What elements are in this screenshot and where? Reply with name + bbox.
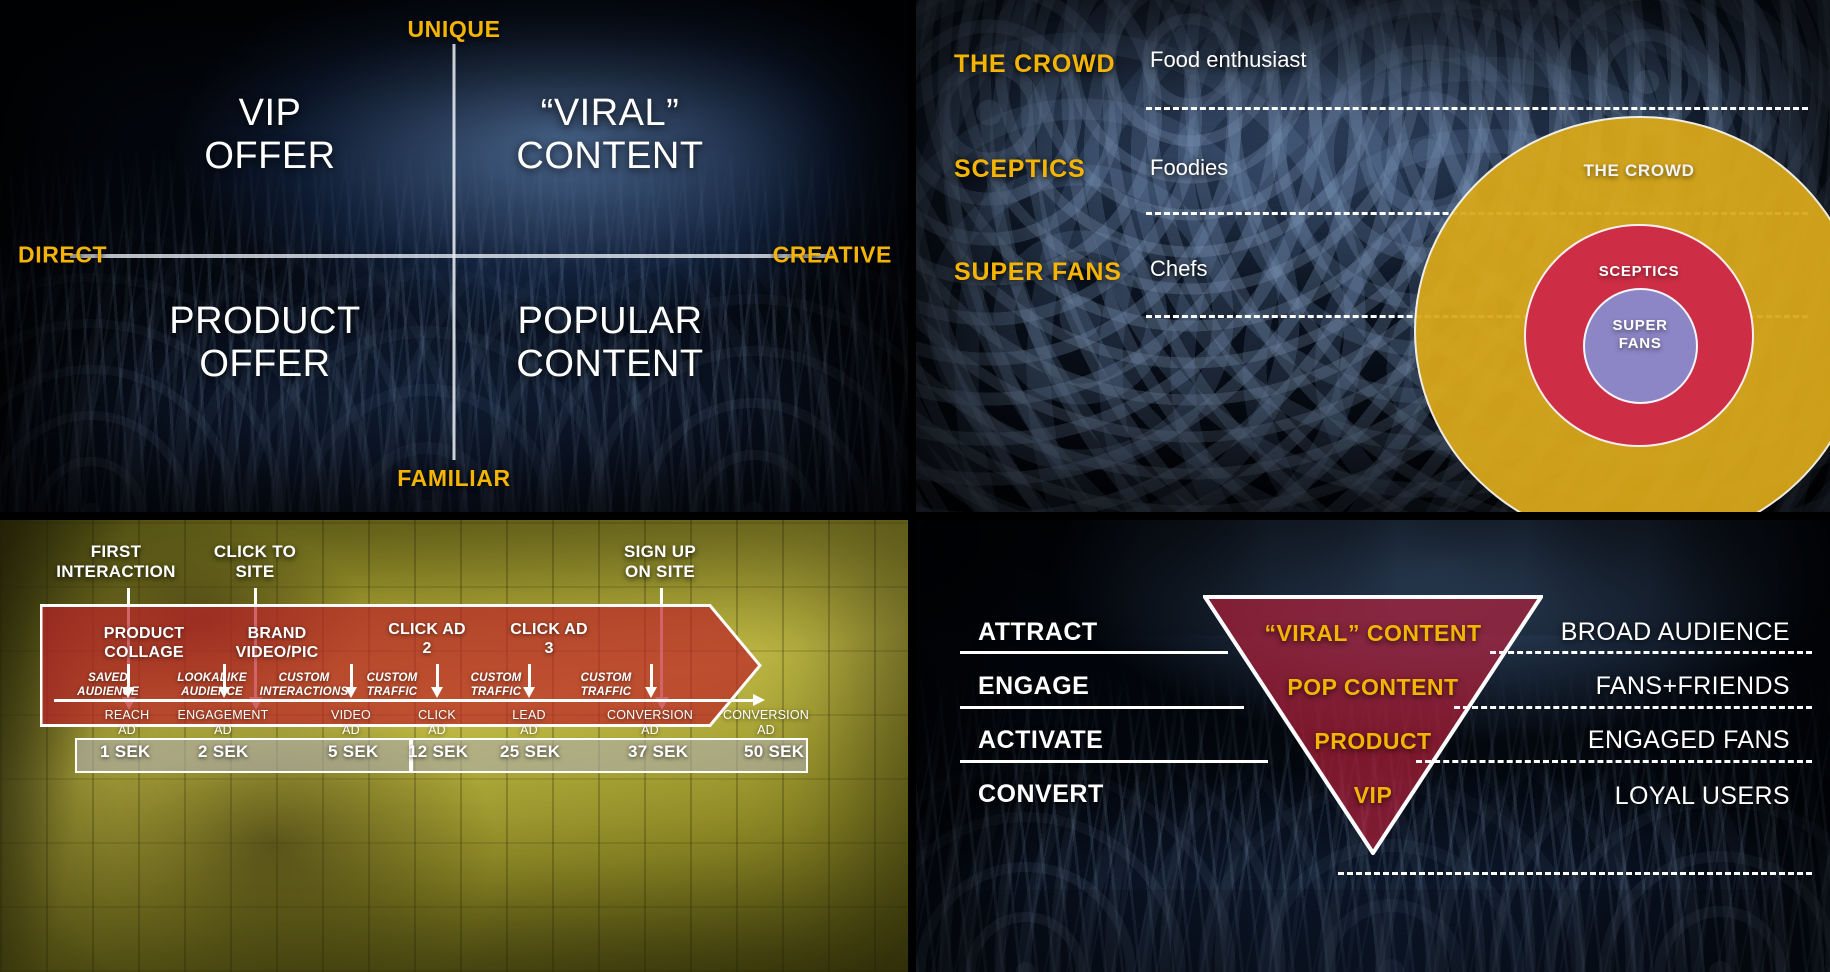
targeting-lookalike-audience-line1: LOOKALIKE — [164, 672, 260, 686]
slide-grid: UNIQUE FAMILIAR DIRECT CREATIVE VIP OFFE… — [0, 0, 1830, 972]
concentric-circles-diagram: THE CROWD SCEPTICS SUPER FANS — [1414, 116, 1830, 512]
quadrant-product-offer: PRODUCT OFFER — [110, 300, 420, 385]
duration-25-sek: 25 SEK — [500, 742, 560, 762]
quadrant-vip-offer-line1: VIP — [130, 92, 410, 135]
matrix-vertical-axis — [453, 44, 456, 460]
milestone-click-to-site-line2: SITE — [180, 562, 330, 582]
quadrant-product-offer-line2: OFFER — [110, 343, 420, 386]
column-gutter-bottom — [908, 520, 916, 972]
milestone-sign-up-on-site: SIGN UP ON SITE — [590, 542, 730, 582]
segment-example-food-enthusiast: Food enthusiast — [1150, 47, 1307, 73]
axis-label-familiar: FAMILIAR — [397, 465, 510, 492]
quadrant-vip-offer-line2: OFFER — [130, 135, 410, 178]
milestone-first-interaction: FIRST INTERACTION — [36, 542, 196, 582]
ad-arrow-conversion-1 — [650, 664, 653, 688]
ad-arrow-engagement — [223, 664, 226, 688]
segment-example-foodies: Foodies — [1150, 155, 1228, 181]
divider-crowd-sceptics — [1146, 107, 1808, 110]
targeting-custom-traffic-3-line1: CUSTOM — [562, 672, 650, 686]
duration-12-sek: 12 SEK — [408, 742, 468, 762]
row-gutter-left — [0, 512, 908, 520]
duration-5-sek: 5 SEK — [328, 742, 379, 762]
funnel-divider-solid-1 — [960, 651, 1228, 654]
panel-content-matrix: UNIQUE FAMILIAR DIRECT CREATIVE VIP OFFE… — [0, 0, 908, 512]
ad-video-line2: AD — [312, 723, 390, 738]
duration-1-sek: 1 SEK — [100, 742, 151, 762]
funnel-content-vip: VIP — [1354, 782, 1393, 809]
milestone-first-interaction-line2: INTERACTION — [36, 562, 196, 582]
milestone-click-to-site-line1: CLICK TO — [180, 542, 330, 562]
quadrant-popular-content-line1: POPULAR — [460, 300, 760, 343]
axis-label-direct: DIRECT — [18, 241, 107, 268]
duration-2-sek: 2 SEK — [198, 742, 249, 762]
adlabel-product-collage: PRODUCT COLLAGE — [82, 624, 206, 662]
adlabel-click-ad-3: CLICK AD 3 — [490, 620, 608, 658]
adlabel-product-collage-line2: COLLAGE — [82, 643, 206, 662]
adlabel-brand-video-pic-line2: VIDEO/PIC — [214, 643, 340, 662]
segment-title-the-crowd: THE CROWD — [954, 50, 1115, 79]
ad-engagement-line1: ENGAGEMENT — [166, 708, 280, 723]
ad-video: VIDEO AD — [312, 708, 390, 739]
funnel-content-viral: “VIRAL” CONTENT — [1264, 620, 1481, 647]
adlabel-brand-video-pic: BRAND VIDEO/PIC — [214, 624, 340, 662]
axis-label-unique: UNIQUE — [407, 16, 500, 43]
targeting-custom-interactions-line2: INTERACTIONS — [250, 686, 358, 700]
targeting-custom-traffic-3: CUSTOM TRAFFIC — [562, 672, 650, 700]
funnel-content-pop: POP CONTENT — [1287, 674, 1458, 701]
funnel-content-product: PRODUCT — [1314, 728, 1431, 755]
funnel-divider-dash-4 — [1338, 872, 1812, 875]
targeting-custom-interactions: CUSTOM INTERACTIONS — [250, 672, 358, 700]
ad-engagement-line2: AD — [166, 723, 280, 738]
quadrant-popular-content: POPULAR CONTENT — [460, 300, 760, 385]
ad-arrow-reach — [127, 664, 130, 688]
panel-conversion-funnel: ATTRACT ENGAGE ACTIVATE CONVERT “VIRAL” … — [916, 520, 1830, 972]
circle-label-super-fans-line2: FANS — [1585, 335, 1696, 353]
ad-reach: REACH AD — [88, 708, 166, 739]
column-gutter-top — [908, 0, 916, 512]
milestone-first-interaction-line1: FIRST — [36, 542, 196, 562]
targeting-custom-traffic-1-line1: CUSTOM — [348, 672, 436, 686]
funnel-divider-solid-2 — [960, 706, 1244, 709]
ad-conversion-2-line2: AD — [708, 723, 824, 738]
segment-title-sceptics: SCEPTICS — [954, 155, 1085, 184]
adlabel-click-ad-2: CLICK AD 2 — [368, 620, 486, 658]
ad-click-line2: AD — [398, 723, 476, 738]
ad-lead-line2: AD — [490, 723, 568, 738]
quadrant-viral-content-line2: CONTENT — [460, 135, 760, 178]
quadrant-vip-offer: VIP OFFER — [130, 92, 410, 177]
milestone-sign-up-on-site-line1: SIGN UP — [590, 542, 730, 562]
targeting-custom-traffic-3-line2: TRAFFIC — [562, 686, 650, 700]
ad-arrow-click — [436, 664, 439, 688]
quadrant-viral-content-line1: “VIRAL” — [460, 92, 760, 135]
matrix-horizontal-axis — [70, 254, 836, 258]
funnel-audience-fans: FANS+FRIENDS — [1596, 672, 1790, 701]
circle-label-the-crowd: THE CROWD — [1416, 161, 1830, 181]
adlabel-click-ad-2-line1: CLICK AD — [368, 620, 486, 639]
ad-lead-line1: LEAD — [490, 708, 568, 723]
grid-center-gap — [908, 512, 916, 520]
adlabel-click-ad-3-line2: 3 — [490, 639, 608, 658]
adlabel-click-ad-3-line1: CLICK AD — [490, 620, 608, 639]
circle-super-fans: SUPER FANS — [1583, 288, 1698, 404]
funnel-action-attract: ATTRACT — [978, 618, 1098, 647]
circle-label-sceptics: SCEPTICS — [1526, 263, 1752, 280]
quadrant-product-offer-line1: PRODUCT — [110, 300, 420, 343]
segment-title-super-fans: SUPER FANS — [954, 258, 1122, 287]
funnel-action-convert: CONVERT — [978, 780, 1104, 809]
targeting-custom-interactions-line1: CUSTOM — [250, 672, 358, 686]
targeting-saved-audience-line2: AUDIENCE — [64, 686, 152, 700]
targeting-saved-audience: SAVED AUDIENCE — [64, 672, 152, 700]
milestone-click-to-site: CLICK TO SITE — [180, 542, 330, 582]
ad-reach-line1: REACH — [88, 708, 166, 723]
quadrant-viral-content: “VIRAL” CONTENT — [460, 92, 760, 177]
ad-lead: LEAD AD — [490, 708, 568, 739]
funnel-divider-dash-2 — [1454, 706, 1812, 709]
adlabel-product-collage-line1: PRODUCT — [82, 624, 206, 643]
funnel-audience-broad: BROAD AUDIENCE — [1561, 618, 1790, 647]
quadrant-popular-content-line2: CONTENT — [460, 343, 760, 386]
targeting-lookalike-audience-line2: AUDIENCE — [164, 686, 260, 700]
ad-arrow-lead — [528, 664, 531, 688]
panel-ad-timeline: FIRST INTERACTION CLICK TO SITE SIGN UP … — [0, 520, 908, 972]
panel-audience-segments: THE CROWD SCEPTICS SUPER FANS Food enthu… — [916, 0, 1830, 512]
funnel-audience-loyal: LOYAL USERS — [1615, 782, 1790, 811]
funnel-action-activate: ACTIVATE — [978, 726, 1103, 755]
funnel-divider-dash-3 — [1416, 760, 1812, 763]
ad-conversion-1-line2: AD — [592, 723, 708, 738]
adlabel-click-ad-2-line2: 2 — [368, 639, 486, 658]
funnel-action-engage: ENGAGE — [978, 672, 1089, 701]
ad-arrow-video — [350, 664, 353, 688]
ad-video-line1: VIDEO — [312, 708, 390, 723]
funnel-audience-engaged: ENGAGED FANS — [1588, 726, 1790, 755]
funnel-divider-dash-1 — [1490, 651, 1812, 654]
targeting-lookalike-audience: LOOKALIKE AUDIENCE — [164, 672, 260, 700]
ad-conversion-2: CONVERSION AD — [708, 708, 824, 739]
circle-label-super-fans: SUPER FANS — [1585, 317, 1696, 354]
adlabel-brand-video-pic-line1: BRAND — [214, 624, 340, 643]
ad-engagement: ENGAGEMENT AD — [166, 708, 280, 739]
duration-37-sek: 37 SEK — [628, 742, 688, 762]
circle-label-super-fans-line1: SUPER — [1585, 317, 1696, 335]
ad-conversion-2-line1: CONVERSION — [708, 708, 824, 723]
targeting-custom-traffic-1: CUSTOM TRAFFIC — [348, 672, 436, 700]
targeting-saved-audience-line1: SAVED — [64, 672, 152, 686]
segment-example-chefs: Chefs — [1150, 256, 1207, 282]
targeting-custom-traffic-2-line1: CUSTOM — [452, 672, 540, 686]
milestone-sign-up-on-site-line2: ON SITE — [590, 562, 730, 582]
ad-click: CLICK AD — [398, 708, 476, 739]
funnel-divider-solid-3 — [960, 760, 1268, 763]
ad-conversion-1: CONVERSION AD — [592, 708, 708, 739]
ad-conversion-1-line1: CONVERSION — [592, 708, 708, 723]
ad-click-line1: CLICK — [398, 708, 476, 723]
duration-50-sek: 50 SEK — [744, 742, 804, 762]
axis-label-creative: CREATIVE — [773, 241, 892, 268]
row-gutter-right — [916, 512, 1830, 520]
targeting-custom-traffic-1-line2: TRAFFIC — [348, 686, 436, 700]
ad-reach-line2: AD — [88, 723, 166, 738]
